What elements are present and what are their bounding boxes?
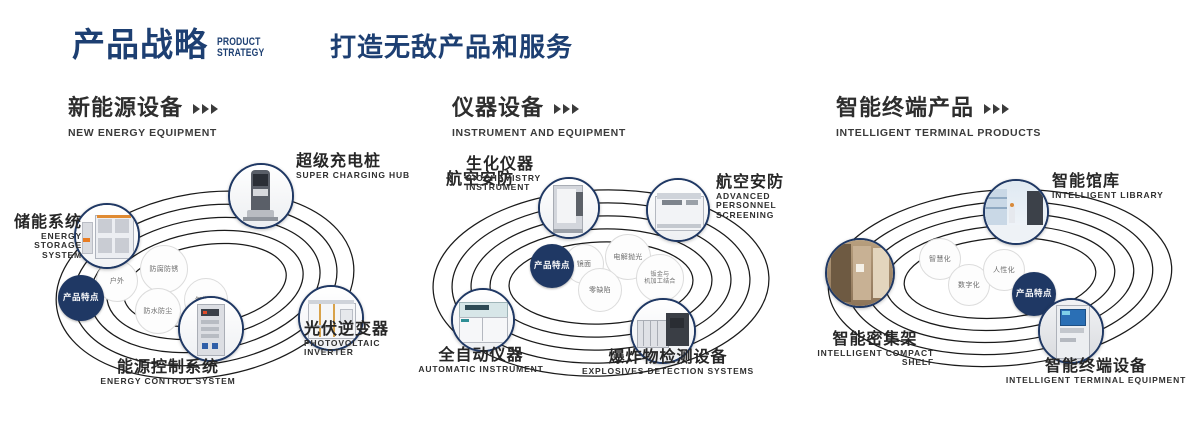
section-heading-en: INTELLIGENT TERMINAL PRODUCTS <box>836 127 1041 139</box>
feature-bubble: 防腐防锈 <box>140 245 188 293</box>
feature-bubble-label: 防腐防锈 <box>149 265 178 274</box>
node-label-energy-storage: 储能系统 ENERGY STORAGE SYSTEM <box>0 213 82 260</box>
automatic-analyzer-photo <box>453 290 513 350</box>
node-label-automatic-instrument: 全自动仪器 AUTOMATIC INSTRUMENT <box>398 346 564 374</box>
feature-bubble-label: 零缺陷 <box>589 286 611 295</box>
page-title-en: PRODUCT STRATEGY <box>217 37 264 59</box>
node-label-explosives-detection: 爆炸物检测设备 EXPLOSIVES DETECTION SYSTEMS <box>573 348 763 376</box>
node-label-cn: 智能终端设备 <box>992 357 1200 374</box>
chevron-right-icon <box>554 104 579 114</box>
node-label-en: INTELLIGENT TERMINAL EQUIPMENT <box>992 376 1200 385</box>
feature-bubble: 零缺陷 <box>578 268 622 312</box>
node-compact-shelf[interactable] <box>825 238 895 308</box>
section-heading-cn: 仪器设备 <box>452 98 544 120</box>
node-automatic-instrument[interactable] <box>451 288 515 352</box>
page-title: 产品战略 PRODUCT STRATEGY <box>72 28 278 61</box>
feature-bubble: 防水防尘 <box>135 288 181 334</box>
node-label-energy-control: 能源控制系统 ENERGY CONTROL SYSTEM <box>78 358 258 386</box>
core-bubble: 产品特点 <box>530 244 574 288</box>
feature-bubble-label: 人性化 <box>993 266 1015 275</box>
core-bubble-label: 产品特点 <box>534 261 570 272</box>
chevron-right-icon <box>984 104 1009 114</box>
feature-bubble-label: 户外 <box>110 277 125 286</box>
core-bubble-label: 产品特点 <box>63 293 99 304</box>
node-label-cn: 能源控制系统 <box>78 358 258 375</box>
node-label-compact-shelf: 智能密集架 INTELLIGENT COMPACT SHELF <box>792 330 958 368</box>
section-heading-cn: 新能源设备 <box>68 98 183 120</box>
node-terminal-equipment[interactable] <box>1038 298 1104 364</box>
energy-storage-cabinet-photo <box>76 205 138 267</box>
node-personnel-screening[interactable] <box>646 178 710 242</box>
node-label-en: ENERGY STORAGE SYSTEM <box>0 232 82 260</box>
node-label-cn: 智能密集架 <box>792 330 958 347</box>
cluster-instrument: 镜面 电解抛光 零缺陷 钣金与 机加工结合 产品特点 <box>398 150 810 400</box>
node-label-cn: 智能馆库 <box>1052 172 1200 189</box>
feature-bubble-label: 电解抛光 <box>613 253 642 262</box>
feature-bubble-label: 防水防尘 <box>143 307 172 316</box>
node-intelligent-library[interactable] <box>983 179 1049 245</box>
library-interior-photo <box>985 181 1047 243</box>
node-label-cn: 储能系统 <box>0 213 82 230</box>
feature-bubble-label: 钣金与 机加工结合 <box>644 271 676 286</box>
feature-bubble-label: 数字化 <box>958 281 980 290</box>
control-cabinet-photo <box>180 298 242 360</box>
node-label-en: AUTOMATIC INSTRUMENT <box>398 365 564 374</box>
node-energy-storage[interactable] <box>74 203 140 269</box>
page-subtitle: 打造无敌产品和服务 <box>330 34 573 63</box>
cluster-intelligent-terminal: 智慧化 数字化 人性化 产品特点 <box>800 150 1200 400</box>
chevron-right-icon <box>193 104 218 114</box>
node-label-terminal-equipment: 智能终端设备 INTELLIGENT TERMINAL EQUIPMENT <box>992 357 1200 385</box>
feature-bubble-label: 智慧化 <box>929 255 951 264</box>
node-label-intelligent-library: 智能馆库 INTELLIGENT LIBRARY <box>1052 172 1200 200</box>
section-heading-instrument: 仪器设备 INSTRUMENT AND EQUIPMENT <box>452 98 626 139</box>
node-label-biochemistry-instrument: 生化仪器 BIOCHEMISTRY INSTRUMENT <box>466 155 576 193</box>
section-heading-cn: 智能终端产品 <box>836 98 974 120</box>
node-label-cn: 生化仪器 <box>466 155 576 172</box>
screening-machine-photo <box>648 180 708 240</box>
compact-shelf-photo <box>827 240 893 306</box>
charging-pile-photo <box>230 165 292 227</box>
node-label-cn: 爆炸物检测设备 <box>573 348 763 365</box>
section-heading-en: NEW ENERGY EQUIPMENT <box>68 127 218 139</box>
product-strategy-infographic: 产品战略 PRODUCT STRATEGY 打造无敌产品和服务 新能源设备 NE… <box>0 0 1200 422</box>
node-charging-hub[interactable] <box>228 163 294 229</box>
self-service-kiosk-photo <box>1040 300 1102 362</box>
node-label-en: EXPLOSIVES DETECTION SYSTEMS <box>573 367 763 376</box>
core-bubble-label: 产品特点 <box>1016 289 1052 300</box>
cluster-new-energy: 防腐防锈 户外 防水防尘 气密性 产品特点 <box>0 150 400 400</box>
section-heading-en: INSTRUMENT AND EQUIPMENT <box>452 127 626 139</box>
core-bubble: 产品特点 <box>58 275 104 321</box>
page-title-cn: 产品战略 <box>72 28 208 61</box>
node-label-en: ENERGY CONTROL SYSTEM <box>78 377 258 386</box>
section-heading-intelligent-terminal: 智能终端产品 INTELLIGENT TERMINAL PRODUCTS <box>836 98 1041 139</box>
node-label-cn: 全自动仪器 <box>398 346 564 363</box>
feature-bubble-label: 镜面 <box>577 260 592 269</box>
feature-bubble: 钣金与 机加工结合 <box>636 254 684 302</box>
node-energy-control[interactable] <box>178 296 244 362</box>
node-label-en: BIOCHEMISTRY INSTRUMENT <box>466 174 552 192</box>
node-label-en: INTELLIGENT LIBRARY <box>1052 191 1200 200</box>
node-label-en: INTELLIGENT COMPACT SHELF <box>816 349 934 367</box>
section-heading-new-energy: 新能源设备 NEW ENERGY EQUIPMENT <box>68 98 218 139</box>
